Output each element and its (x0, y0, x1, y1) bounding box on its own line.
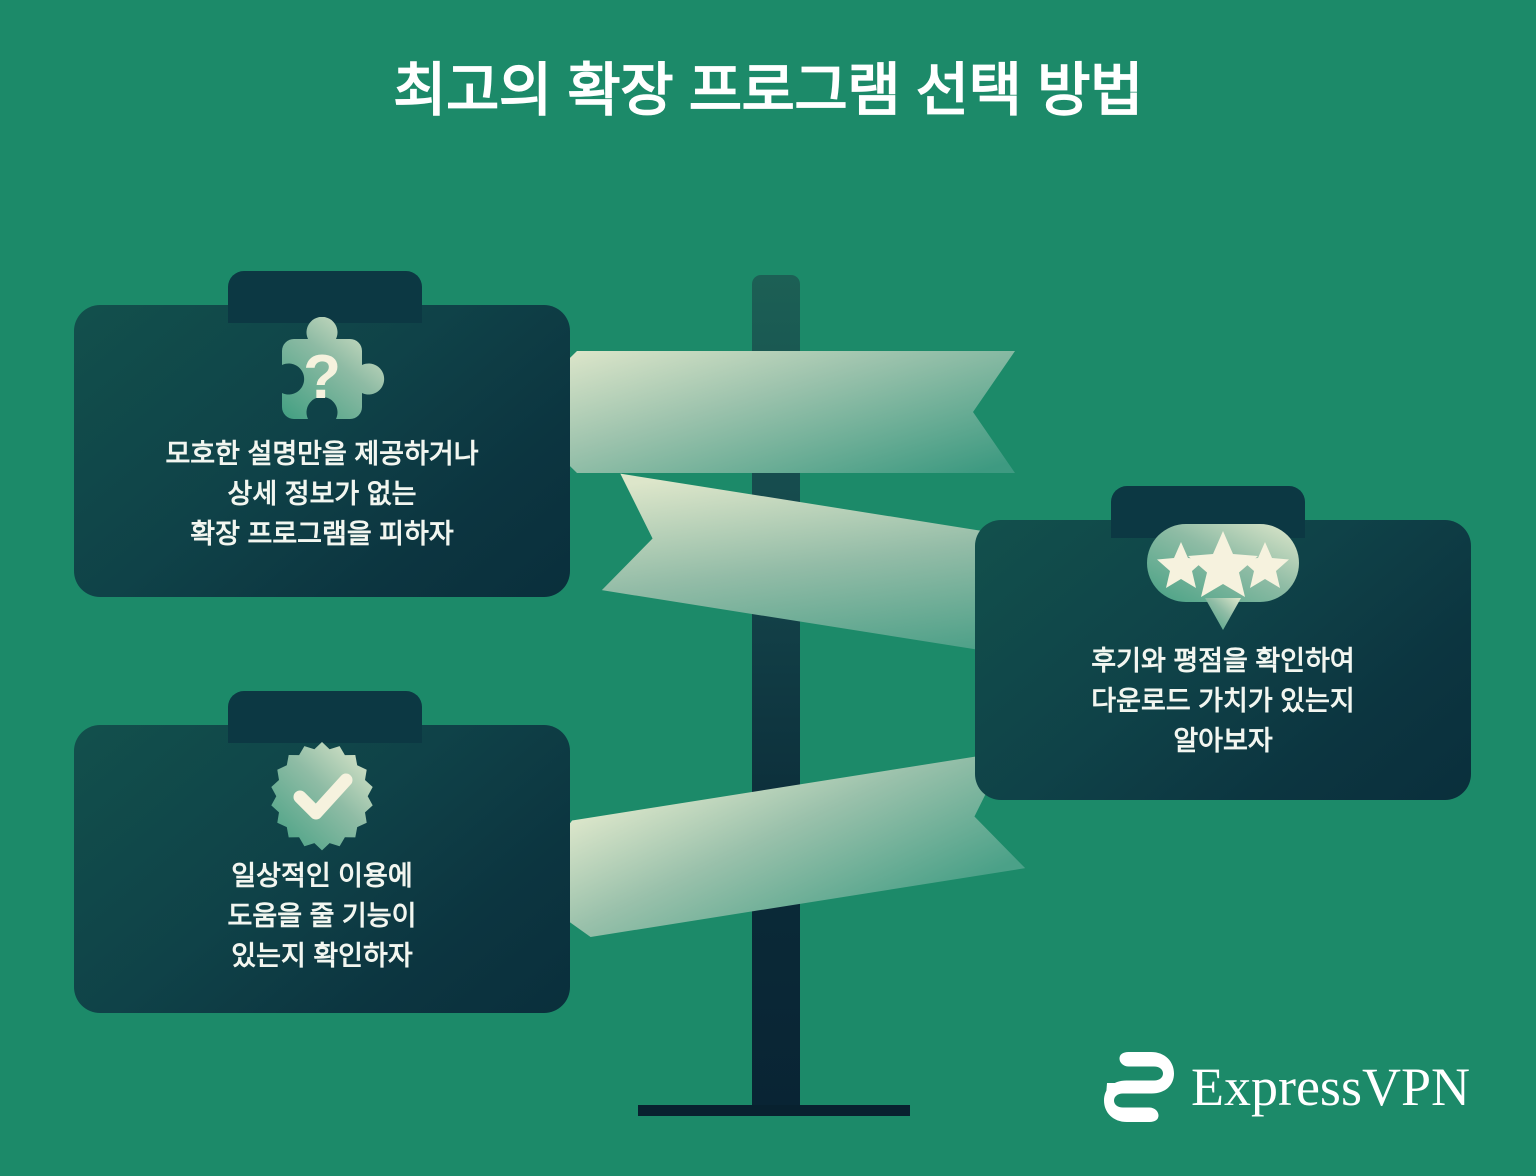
expressvpn-e-mark-icon (1103, 1050, 1175, 1124)
puzzle-question-icon-wrap: ? (74, 317, 570, 441)
infographic-canvas: 최고의 확장 프로그램 선택 방법 (0, 0, 1536, 1176)
card-useful-features: 일상적인 이용에 도움을 줄 기능이 있는지 확인하자 (74, 725, 570, 1013)
puzzle-question-icon: ? (256, 317, 388, 441)
card-avoid-vague-extensions: ? 모호한 설명만을 제공하거나 상세 정보가 없는 확장 프로그램을 피하자 (74, 305, 570, 597)
card-avoid-text: 모호한 설명만을 제공하거나 상세 정보가 없는 확장 프로그램을 피하자 (74, 435, 570, 555)
card-features-text: 일상적인 이용에 도움을 줄 기능이 있는지 확인하자 (74, 857, 570, 977)
puzzle-question-glyph: ? (303, 343, 341, 412)
verified-check-badge-icon (263, 739, 381, 857)
signpost-base (638, 1105, 910, 1116)
expressvpn-logo: ExpressVPN (1103, 1050, 1470, 1124)
expressvpn-wordmark: ExpressVPN (1191, 1060, 1470, 1114)
review-stars-bubble-icon (1147, 522, 1299, 632)
review-stars-bubble-icon-wrap (975, 522, 1471, 632)
verified-check-badge-icon-wrap (74, 739, 570, 857)
signpost-arrow-top (515, 351, 1015, 473)
page-title: 최고의 확장 프로그램 선택 방법 (0, 58, 1536, 125)
card-reviews-text: 후기와 평점을 확인하여 다운로드 가치가 있는지 알아보자 (975, 642, 1471, 762)
card-check-reviews: 후기와 평점을 확인하여 다운로드 가치가 있는지 알아보자 (975, 520, 1471, 800)
